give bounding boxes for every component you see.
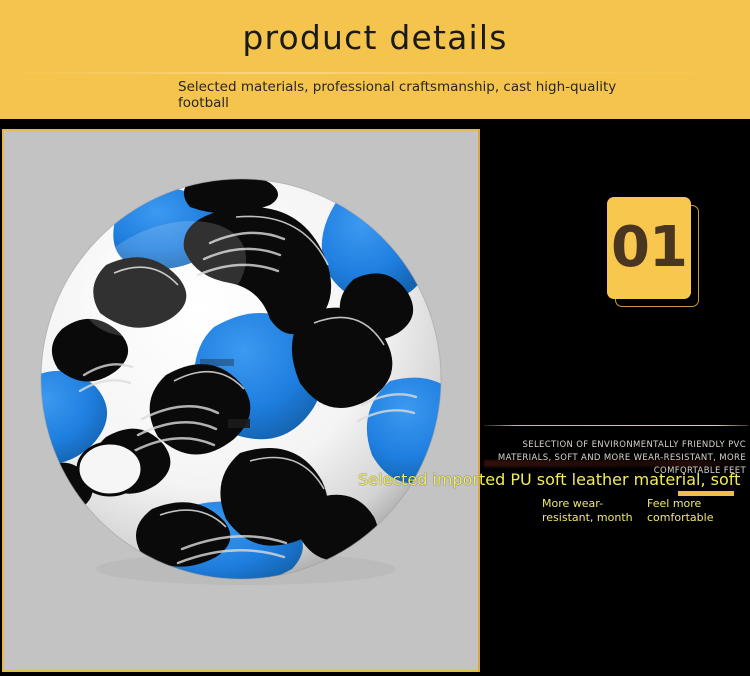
feature-caps-description: SELECTION OF ENVIRONMENTALLY FRIENDLY PV…: [480, 439, 746, 478]
product-details-page: product details Selected materials, prof…: [0, 0, 750, 676]
feature-divider-rule: [484, 425, 748, 426]
feature-panel: 01 Selected imported PU soft leather mat…: [480, 119, 750, 676]
badge-card: 01: [607, 197, 691, 299]
feature-subcolumn-2: Feel more comfortable: [647, 497, 742, 524]
header-band: product details Selected materials, prof…: [0, 0, 750, 119]
page-subtitle: Selected materials, professional craftsm…: [178, 79, 638, 111]
accent-bar: [678, 491, 734, 496]
feature-number-badge: 01: [480, 119, 750, 319]
feature-subcolumns: More wear-resistant, month Feel more com…: [542, 497, 750, 524]
product-image: [4, 131, 478, 670]
product-image-panel[interactable]: [2, 129, 480, 672]
badge-number-text: 01: [611, 220, 687, 276]
page-title: product details: [0, 18, 750, 57]
feature-subcolumn-1: More wear-resistant, month: [542, 497, 637, 524]
header-sheen: [0, 72, 750, 74]
soccer-ball-illustration: [14, 169, 468, 589]
